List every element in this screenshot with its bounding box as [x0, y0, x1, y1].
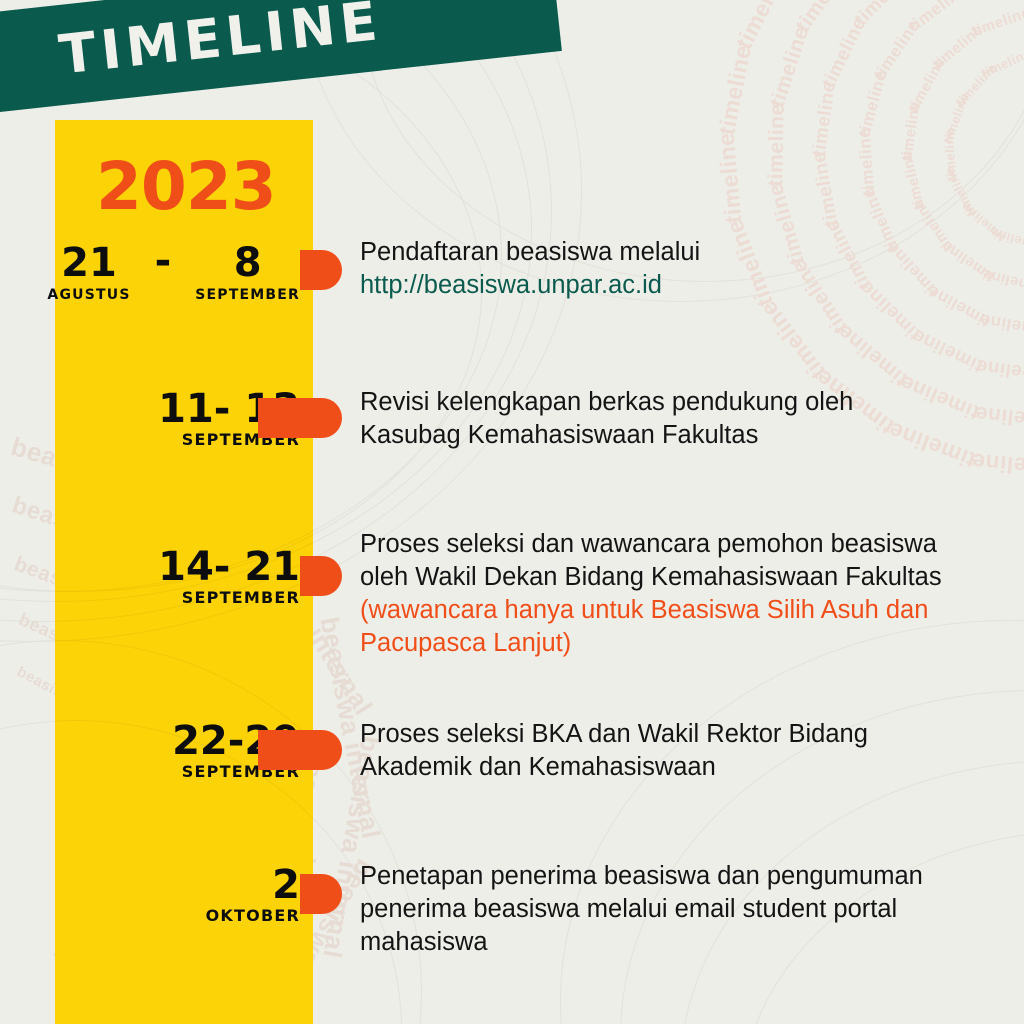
entry-month-start: AGUSTUS [47, 287, 130, 303]
entry-description: Proses seleksi dan wawancara pemohon bea… [360, 528, 980, 661]
entry-text-line: Penetapan penerima beasiswa dan pengumum… [360, 860, 980, 893]
entry-date: 21AGUSTUS-8SEPTEMBER [47, 243, 300, 303]
entry-text-line: oleh Wakil Dekan Bidang Kemahasiswaan Fa… [360, 561, 980, 594]
timeline-banner: TIMELINE [0, 0, 562, 116]
entry-connector-pill [300, 556, 342, 596]
entry-connector-pill [258, 730, 342, 770]
entry-description: Proses seleksi BKA dan Wakil Rektor Bida… [360, 718, 980, 784]
entry-date-separator: - [155, 241, 172, 281]
entry-text-line: Kasubag Kemahasiswaan Fakultas [360, 419, 980, 452]
entry-date-range: 14- 21 [158, 548, 300, 587]
entry-description: Pendaftaran beasiswa melaluihttp://beasi… [360, 236, 980, 302]
entry-text-line: Proses seleksi BKA dan Wakil Rektor Bida… [360, 718, 980, 751]
entry-connector-pill [300, 874, 342, 914]
entry-day-start: 21 [47, 243, 130, 283]
entry-text-line: Akademik dan Kemahasiswaan [360, 751, 980, 784]
entry-link[interactable]: http://beasiswa.unpar.ac.id [360, 269, 980, 302]
entry-description: Revisi kelengkapan berkas pendukung oleh… [360, 386, 980, 452]
entry-text-line: mahasiswa [360, 926, 980, 959]
entry-month-end: SEPTEMBER [195, 287, 300, 303]
page-title: TIMELINE [56, 0, 385, 87]
entry-text-line: Pacupasca Lanjut) [360, 627, 980, 660]
entry-text-line: Revisi kelengkapan berkas pendukung oleh [360, 386, 980, 419]
entry-text-line: penerima beasiswa melalui email student … [360, 893, 980, 926]
entry-date-range: 2 [206, 866, 300, 905]
entry-day-end: 8 [195, 243, 300, 283]
entry-text-line: Pendaftaran beasiswa melalui [360, 236, 980, 269]
entry-date-month: SEPTEMBER [158, 589, 300, 607]
timeline-infographic: timelinetimelinetimelinetimelinetimeline… [0, 0, 1024, 1024]
entry-connector-pill [300, 250, 342, 290]
year-label: 2023 [96, 148, 276, 225]
entry-text-line: Proses seleksi dan wawancara pemohon bea… [360, 528, 980, 561]
entry-text-line: (wawancara hanya untuk Beasiswa Silih As… [360, 594, 980, 627]
entry-date-month: OKTOBER [206, 907, 300, 925]
entry-date: 2OKTOBER [206, 866, 300, 926]
entry-connector-pill [258, 398, 342, 438]
entry-date: 14- 21SEPTEMBER [158, 548, 300, 608]
entry-description: Penetapan penerima beasiswa dan pengumum… [360, 860, 980, 959]
